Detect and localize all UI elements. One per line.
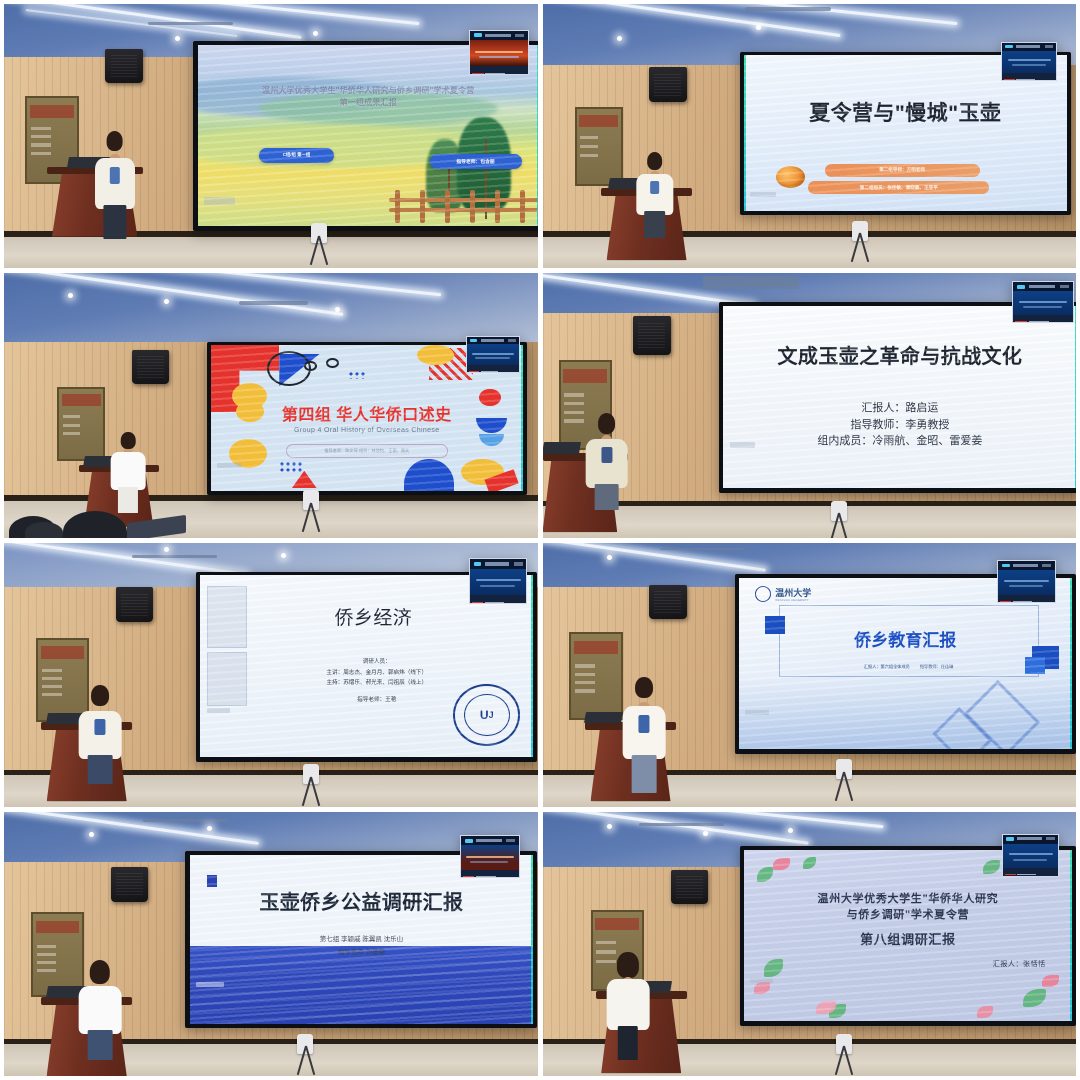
slide-line-presenter: 汇报人：路启运 [751, 400, 1048, 417]
snail-icon [776, 166, 805, 188]
pip-video-overlay [1001, 42, 1057, 81]
camera-tripod [852, 221, 868, 263]
led-screen: 侨乡经济 调研人员： 主讲：周志杰、金月月、郭启炜（线下） 主持：苏熠乐、郝光来… [196, 572, 537, 762]
led-screen: 玉壶侨乡公益调研汇报 第七组 李颖戚 陈翼凯 沈乐山 指导老师 刘蔷薇 [185, 851, 537, 1028]
wall-notice-board [575, 107, 623, 186]
ceiling-speaker-icon [132, 350, 169, 384]
slide-line-advisor: 指导教师：李勇教授 [751, 417, 1048, 434]
slide-line-label: 调研人员： [260, 657, 493, 668]
wall-notice-board [57, 387, 105, 461]
slide-title: 侨乡教育汇报 [799, 626, 1012, 651]
slide-title: 第四组 华人华侨口述史 [257, 401, 476, 425]
camera-tripod [836, 759, 852, 801]
photo-collage: 温州大学优秀大学生"华侨华人研究与侨乡调研"学术夏令营 第一组成果汇报 C组/组… [0, 0, 1080, 1080]
pill-members: 第二组组员：张佳敏、章晓磊、王亚平 [808, 181, 989, 194]
slide-title: 夏令营与"慢城"玉壶 [763, 102, 1047, 126]
pip-video-overlay [469, 558, 527, 604]
slide-revolution-culture: 文成玉壶之革命与抗战文化 汇报人：路启运 指导教师：李勇教授 组内成员：冷雨航、… [723, 306, 1076, 488]
camera-tripod [311, 223, 327, 265]
panel-1: 温州大学优秀大学生"华侨华人研究与侨乡调研"学术夏令营 第一组成果汇报 C组/组… [4, 4, 538, 268]
panel-6: 温州大学 WENZHOU UNIVERSITY 侨乡教育汇报 汇报人：第六组全体… [543, 543, 1077, 807]
panel-4: 文成玉壶之革命与抗战文化 汇报人：路启运 指导教师：李勇教授 组内成员：冷雨航、… [543, 273, 1077, 537]
ceiling-speaker-icon [649, 585, 686, 619]
camera-tripod [303, 764, 319, 806]
pip-video-overlay [1002, 834, 1059, 877]
ceiling-speaker-icon [649, 67, 686, 101]
ceiling-speaker-icon [633, 316, 670, 356]
laptop [543, 442, 581, 454]
slide-line-offline: 主讲：周志杰、金月月、郭启炜（线下） [260, 668, 493, 679]
slide-line-members: 组内成员：冷雨航、金昭、雷爱姜 [751, 433, 1048, 450]
chip-group: C组/组 第一组 [259, 148, 334, 163]
ceiling-speaker-icon [105, 49, 142, 83]
presenter [111, 432, 146, 511]
pill-advisor: 第二组导师：方明老师 [825, 164, 980, 177]
wall-notice-board [569, 632, 622, 719]
slide-byline-presenter: 汇报人：第六组全体成员 [864, 664, 910, 670]
ceiling-speaker-icon [116, 587, 153, 621]
presenter [636, 152, 673, 237]
camera-tripod [831, 501, 847, 538]
university-logo: 温州大学 WENZHOU UNIVERSITY [755, 586, 811, 602]
slide-byline-advisor: 指导教师：任佳琳 [920, 664, 954, 670]
panel-3: 第四组 华人华侨口述史 Group 4 Oral History of Over… [4, 273, 538, 537]
presenter [79, 960, 122, 1060]
slide-title: 侨乡经济 [300, 608, 447, 630]
ceiling-speaker-icon [671, 870, 708, 904]
presenter [585, 413, 628, 513]
university-seal: UJ [453, 684, 520, 746]
wall-notice-board [31, 912, 84, 997]
camera-tripod [836, 1034, 852, 1076]
slide-title: 文成玉壶之革命与抗战文化 [741, 346, 1060, 369]
camera-tripod [297, 1034, 313, 1076]
panel-5: 侨乡经济 调研人员： 主讲：周志杰、金月月、郭启炜（线下） 主持：苏熠乐、郝光来… [4, 543, 538, 807]
pip-video-overlay [997, 560, 1055, 603]
pip-video-overlay [460, 835, 520, 877]
presenter [607, 952, 650, 1058]
slide-title-line1: 温州大学优秀大学生"华侨华人研究 [764, 891, 1053, 908]
camera-tripod [303, 490, 319, 532]
slide-byline: 汇报人：张恬恬 [993, 959, 1046, 969]
slide-caption: 指导老师：陈文苑 组员：林欣怡、王丽、周天 [286, 444, 448, 457]
led-screen: 温州大学优秀大学生"华侨华人研究 与侨乡调研"学术夏令营 第八组调研汇报 汇报人… [740, 846, 1076, 1026]
pip-video-overlay [1012, 281, 1074, 323]
presenter [623, 677, 666, 788]
led-screen: 温州大学优秀大学生"华侨华人研究与侨乡调研"学术夏令营 第一组成果汇报 C组/组… [193, 41, 537, 231]
slide-line-members: 第七组 李颖戚 陈翼凯 沈乐山 [224, 934, 499, 946]
slide-title-line3: 第八组调研汇报 [764, 930, 1053, 950]
chip-advisor: 指导老师：包含丽 [430, 154, 522, 169]
slide-line-advisor: 指导老师 刘蔷薇 [224, 947, 499, 959]
slide-public-welfare: 玉壶侨乡公益调研汇报 第七组 李颖戚 陈翼凯 沈乐山 指导老师 刘蔷薇 [190, 855, 534, 1024]
presenter [79, 685, 122, 785]
panel-2: 夏令营与"慢城"玉壶 第二组导师：方明老师 第二组组员：张佳敏、章晓磊、王亚平 [543, 4, 1077, 268]
slide-title-line2: 与侨乡调研"学术夏令营 [764, 907, 1053, 924]
led-screen: 夏令营与"慢城"玉壶 第二组导师：方明老师 第二组组员：张佳敏、章晓磊、王亚平 [740, 52, 1071, 216]
led-screen: 第四组 华人华侨口述史 Group 4 Oral History of Over… [207, 342, 527, 495]
slide-line-online: 主持：苏熠乐、郝光来、闫祖辰（线上） [260, 678, 493, 689]
pip-video-overlay [469, 30, 528, 76]
ceiling-speaker-icon [111, 867, 148, 901]
panel-8: 温州大学优秀大学生"华侨华人研究 与侨乡调研"学术夏令营 第八组调研汇报 汇报人… [543, 812, 1077, 1076]
slide-education-report: 温州大学 WENZHOU UNIVERSITY 侨乡教育汇报 汇报人：第六组全体… [739, 578, 1072, 749]
laptop [584, 712, 623, 723]
slide-title: 温州大学优秀大学生"华侨华人研究与侨乡调研"学术夏令营 第一组成果汇报 [211, 85, 525, 109]
presenter [95, 131, 135, 237]
led-screen: 文成玉壶之革命与抗战文化 汇报人：路启运 指导教师：李勇教授 组内成员：冷雨航、… [719, 302, 1076, 492]
led-screen: 温州大学 WENZHOU UNIVERSITY 侨乡教育汇报 汇报人：第六组全体… [735, 574, 1076, 754]
slide-title: 玉壶侨乡公益调研汇报 [217, 892, 506, 915]
pip-video-overlay [466, 336, 520, 373]
panel-7: 玉壶侨乡公益调研汇报 第七组 李颖戚 陈翼凯 沈乐山 指导老师 刘蔷薇 [4, 812, 538, 1076]
audience-silhouette [25, 522, 62, 538]
slide-subtitle-en: Group 4 Oral History of Overseas Chinese [254, 427, 479, 434]
